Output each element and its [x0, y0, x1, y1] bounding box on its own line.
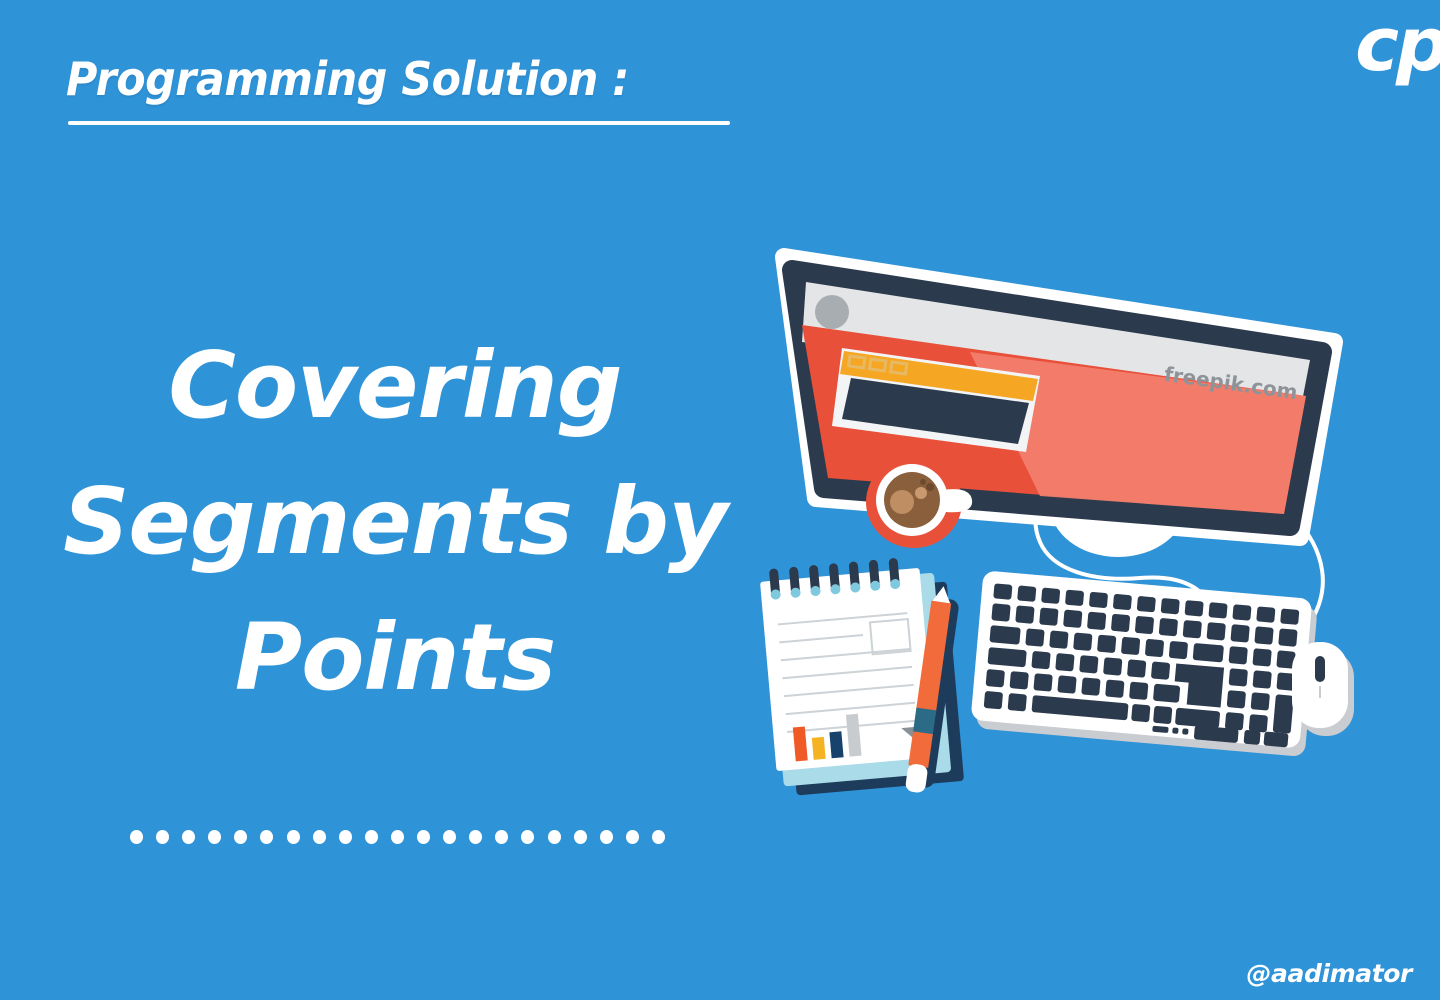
- page-title-line-3: Points: [0, 590, 790, 726]
- divider-dot: [574, 830, 587, 844]
- divider-dot: [234, 830, 247, 844]
- author-handle: @aadimator: [1246, 959, 1412, 988]
- page-eyebrow-title: Programming Solution :: [66, 52, 629, 106]
- divider-dot: [652, 830, 665, 844]
- divider-dot: [600, 830, 613, 844]
- divider-dot: [260, 830, 273, 844]
- divider-dot: [365, 830, 378, 844]
- divider-dot: [443, 830, 456, 844]
- slide-canvas: Programming Solution : cp Covering Segme…: [0, 0, 1440, 1000]
- page-title: Covering Segments by Points: [0, 318, 790, 726]
- divider-dot: [287, 830, 300, 844]
- page-title-line-2: Segments by: [0, 454, 790, 590]
- divider-dot: [521, 830, 534, 844]
- divider-dot: [391, 830, 404, 844]
- divider-dot: [208, 830, 221, 844]
- divider-dot: [339, 830, 352, 844]
- divider-dot: [313, 830, 326, 844]
- divider-dot: [469, 830, 482, 844]
- keyboard: [970, 570, 1318, 757]
- dotted-divider: [130, 830, 665, 844]
- desk-workspace-illustration: freepik.com: [740, 230, 1440, 830]
- mouse: [1292, 642, 1354, 736]
- divider-dot: [548, 830, 561, 844]
- divider-dot: [417, 830, 430, 844]
- divider-dot: [182, 830, 195, 844]
- divider-dot: [495, 830, 508, 844]
- monitor: freepik.com: [784, 257, 1334, 557]
- header-underline-divider: [68, 121, 730, 125]
- divider-dot: [130, 830, 143, 844]
- cp-brand-logo: cp: [1355, 8, 1440, 82]
- page-title-line-1: Covering: [0, 318, 790, 454]
- divider-dot: [156, 830, 169, 844]
- divider-dot: [626, 830, 639, 844]
